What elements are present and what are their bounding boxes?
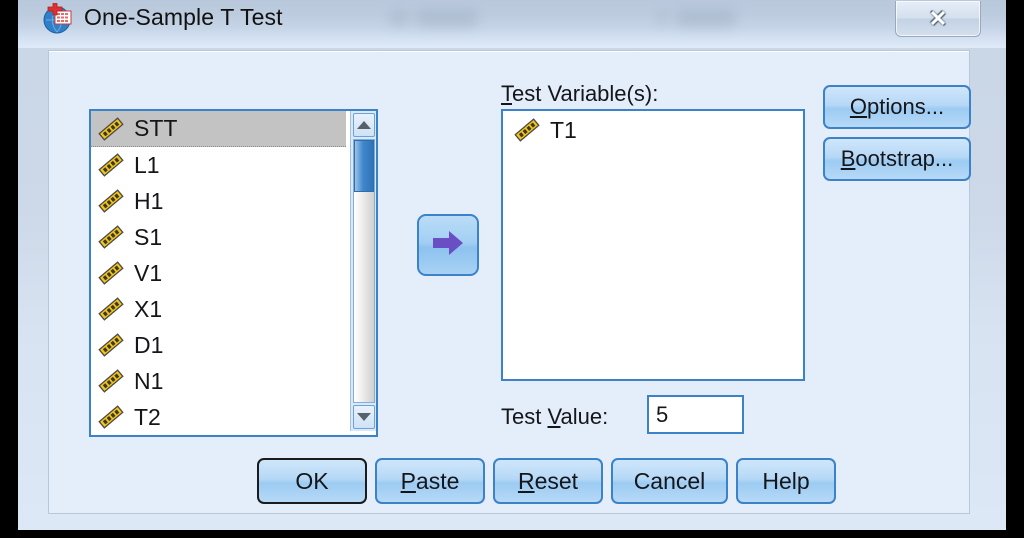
reset-button-mnemonic: R: [518, 468, 535, 495]
title-bar[interactable]: One-Sample T Test ✕: [18, 0, 1006, 48]
variable-name: STT: [134, 115, 177, 142]
scroll-down-arrow-glyph: [357, 413, 371, 421]
variable-name: D1: [134, 332, 163, 359]
test-value-label-b: alue:: [561, 404, 609, 429]
scale-ruler-icon: [97, 331, 125, 359]
variable-name: X1: [134, 296, 162, 323]
transfer-variable-button[interactable]: [417, 214, 479, 276]
scrollbar-thumb[interactable]: [354, 140, 374, 192]
letterbox-bottom: [0, 530, 1024, 538]
source-list-item[interactable]: STT: [91, 111, 346, 147]
paste-button-label: aste: [416, 468, 459, 495]
variable-name: V1: [134, 260, 162, 287]
source-list-scrollbar[interactable]: [350, 111, 376, 431]
test-variables-list[interactable]: T1: [501, 109, 805, 381]
test-value-label: Test Value:: [501, 404, 608, 430]
source-list-item[interactable]: D1: [91, 327, 346, 363]
test-variables-label-mnemonic: T: [501, 81, 512, 106]
scale-ruler-icon: [97, 187, 125, 215]
variable-name: N1: [134, 368, 163, 395]
cancel-button[interactable]: Cancel: [611, 458, 728, 504]
reset-button[interactable]: Reset: [493, 458, 603, 504]
arrow-right-icon: [431, 228, 465, 263]
glass-artifact: [390, 10, 408, 26]
variable-name: S1: [134, 224, 162, 251]
help-button-label: Help: [762, 468, 809, 495]
options-button-label: ptions...: [867, 94, 944, 120]
source-list-item[interactable]: N1: [91, 363, 346, 399]
close-icon: ✕: [896, 1, 980, 36]
scroll-down-icon[interactable]: [353, 405, 375, 429]
scale-ruler-icon: [513, 116, 541, 144]
scroll-up-icon[interactable]: [353, 113, 375, 137]
close-button[interactable]: ✕: [895, 1, 981, 37]
source-list-item[interactable]: S1: [91, 219, 346, 255]
help-button[interactable]: Help: [736, 458, 836, 504]
paste-button[interactable]: Paste: [375, 458, 485, 504]
paste-button-mnemonic: P: [401, 468, 416, 495]
test-value-label-a: Test: [501, 404, 547, 429]
test-variables-label: Test Variable(s):: [501, 81, 658, 107]
variable-name: L1: [134, 152, 160, 179]
screen: One-Sample T Test ✕ STTL1H1S1V1X1D1N1T2: [0, 0, 1024, 538]
source-list-item[interactable]: L1: [91, 147, 346, 183]
ok-button[interactable]: OK: [257, 458, 367, 504]
variable-name: T2: [134, 404, 161, 431]
scale-ruler-icon: [97, 367, 125, 395]
variable-name: T1: [550, 117, 577, 144]
scale-ruler-icon: [97, 223, 125, 251]
scroll-up-arrow-glyph: [357, 121, 371, 129]
reset-button-label: eset: [535, 468, 578, 495]
source-list-item[interactable]: T2: [91, 399, 346, 435]
glass-artifact: [676, 9, 736, 27]
bootstrap-button-mnemonic: B: [841, 146, 856, 172]
test-value-label-mnemonic: V: [547, 404, 560, 429]
test-variables-label-rest: est Variable(s):: [512, 81, 658, 106]
test-value-input[interactable]: [647, 395, 744, 434]
scale-ruler-icon: [97, 259, 125, 287]
scrollbar-track[interactable]: [353, 139, 375, 403]
letterbox-left: [0, 0, 18, 538]
bootstrap-button[interactable]: Bootstrap...: [823, 137, 971, 181]
ok-button-label: OK: [295, 468, 328, 495]
scale-ruler-icon: [97, 295, 125, 323]
bootstrap-button-label: ootstrap...: [855, 146, 953, 172]
letterbox-right: [1006, 0, 1024, 538]
source-list-item[interactable]: V1: [91, 255, 346, 291]
dialog-window: One-Sample T Test ✕ STTL1H1S1V1X1D1N1T2: [18, 0, 1006, 530]
window-title: One-Sample T Test: [84, 4, 283, 31]
glass-artifact: [658, 10, 666, 26]
scale-ruler-icon: [97, 403, 125, 431]
test-variable-item[interactable]: T1: [503, 111, 803, 149]
spss-one-sample-t-test-icon: [42, 3, 74, 35]
source-variable-list-items[interactable]: STTL1H1S1V1X1D1N1T2: [91, 111, 346, 435]
glass-artifact: [416, 9, 478, 27]
source-list-item[interactable]: X1: [91, 291, 346, 327]
options-button[interactable]: Options...: [823, 85, 971, 129]
cancel-button-label: Cancel: [634, 468, 706, 495]
scale-ruler-icon: [97, 151, 125, 179]
source-list-item[interactable]: H1: [91, 183, 346, 219]
dialog-body: STTL1H1S1V1X1D1N1T2: [48, 50, 970, 514]
options-button-mnemonic: O: [850, 94, 867, 120]
source-variable-list[interactable]: STTL1H1S1V1X1D1N1T2: [89, 109, 378, 437]
variable-name: H1: [134, 188, 163, 215]
scale-ruler-icon: [97, 115, 125, 143]
